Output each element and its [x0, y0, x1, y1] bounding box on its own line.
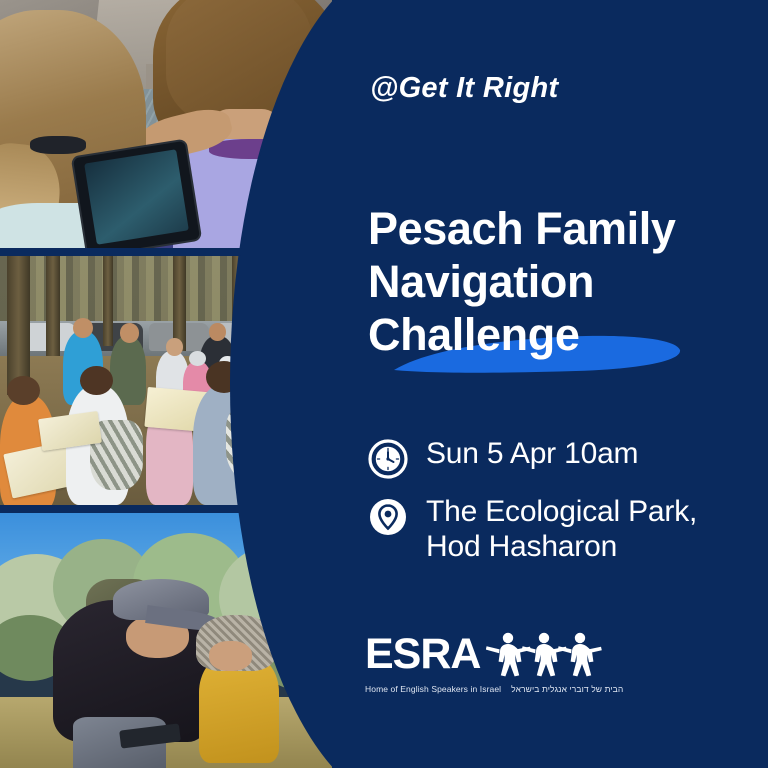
event-datetime: Sun 5 Apr 10am — [426, 437, 638, 472]
photo-column — [0, 0, 332, 768]
poster: @Get It Right Pesach Family Navigation C… — [0, 0, 768, 768]
esra-tagline: Home of English Speakers in Israel הבית … — [365, 684, 615, 694]
event-details: Sun 5 Apr 10am The Ecological Park, Hod … — [368, 437, 758, 581]
page-title: Pesach Family Navigation Challenge — [368, 202, 740, 361]
headline-line-1: Pesach Family — [368, 202, 740, 255]
three-people-holding-hands-icon — [486, 630, 604, 678]
esra-tagline-english: Home of English Speakers in Israel — [365, 684, 501, 694]
esra-tagline-hebrew: הבית של דוברי אנגלית בישראל — [511, 684, 623, 694]
esra-wordmark: ESRA — [365, 633, 480, 676]
headline-line-2: Navigation — [368, 255, 740, 308]
event-location-line-2: Hod Hasharon — [426, 530, 697, 565]
detail-row-datetime: Sun 5 Apr 10am — [368, 437, 758, 479]
headline-line-3: Challenge — [368, 308, 740, 361]
event-location: The Ecological Park, Hod Hasharon — [426, 495, 697, 565]
handle-text: @Get It Right — [370, 72, 558, 105]
esra-logo: ESRA — [365, 628, 615, 694]
location-pin-icon — [368, 497, 408, 537]
clock-icon — [368, 439, 408, 479]
detail-row-location: The Ecological Park, Hod Hasharon — [368, 495, 758, 565]
event-location-line-1: The Ecological Park, — [426, 495, 697, 530]
